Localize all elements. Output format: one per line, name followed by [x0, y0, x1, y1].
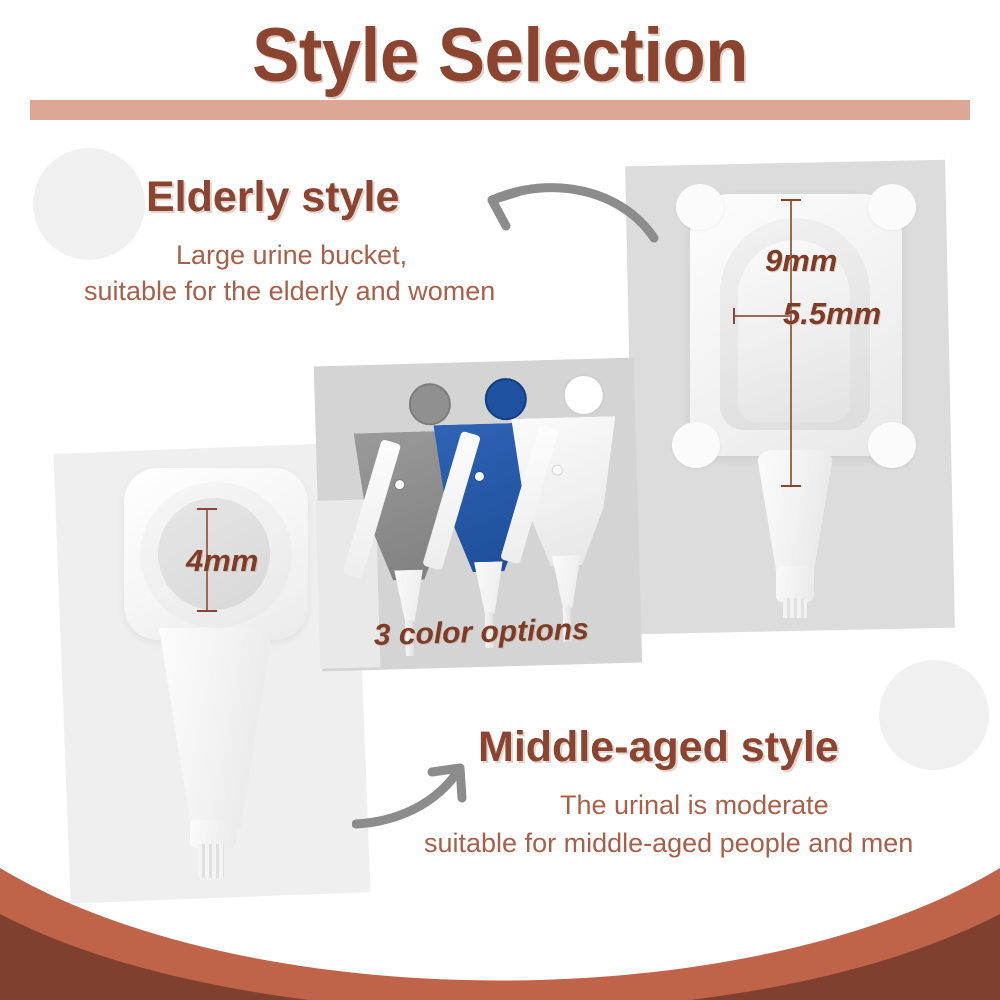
- title-accent-bar: [30, 100, 970, 120]
- middle-aged-urinal-cone-body: [154, 628, 278, 828]
- color-swatch-white[interactable]: [562, 373, 605, 416]
- elderly-height-dimension-cap-bottom: [781, 485, 801, 487]
- middle-aged-diameter-cap-bottom: [197, 610, 217, 612]
- page-title: Style Selection: [35, 14, 965, 98]
- elderly-style-heading: Elderly style: [146, 172, 399, 222]
- arrow-pointing-to-middle-aged-style: [352, 748, 542, 838]
- decorative-circle-top-left: [33, 148, 145, 260]
- middle-aged-diameter-cap-top: [197, 508, 217, 510]
- elderly-width-dimension-label: 5.5mm: [783, 296, 881, 332]
- elderly-width-dimension-cap-left: [733, 308, 735, 324]
- elderly-style-subtitle-line1: Large urine bucket,: [176, 238, 407, 272]
- elderly-urinal-corner-bump-bottom-left: [672, 422, 720, 468]
- infographic-canvas: Style Selection 9mm 5.5mm 4mm: [0, 0, 1000, 1000]
- elderly-urinal-drain-tube: [783, 598, 807, 618]
- elderly-urinal-tip: [776, 566, 814, 602]
- elderly-height-dimension-cap-top: [781, 199, 801, 201]
- arrow-pointing-to-elderly-style: [462, 168, 662, 258]
- middle-aged-urinal-product-image: [110, 468, 330, 888]
- middle-aged-style-subtitle-line1: The urinal is moderate: [560, 788, 829, 822]
- color-options-caption: 3 color options: [321, 611, 642, 654]
- elderly-urinal-spout: [756, 450, 834, 572]
- color-swatch-gray[interactable]: [408, 383, 451, 426]
- elderly-urinal-corner-bump-top-left: [676, 184, 724, 230]
- elderly-height-dimension-label: 9mm: [765, 243, 837, 279]
- middle-aged-diameter-label: 4mm: [186, 543, 258, 579]
- color-swatch-blue[interactable]: [484, 378, 527, 421]
- decorative-circle-bottom-right: [879, 660, 989, 770]
- color-options-content: 3 color options: [314, 358, 642, 672]
- elderly-style-subtitle-line2: suitable for the elderly and women: [84, 274, 495, 308]
- elderly-urinal-corner-bump-bottom-right: [868, 422, 916, 468]
- bottom-decorative-waves: [0, 840, 1000, 1000]
- elderly-urinal-corner-bump-top-right: [868, 184, 916, 230]
